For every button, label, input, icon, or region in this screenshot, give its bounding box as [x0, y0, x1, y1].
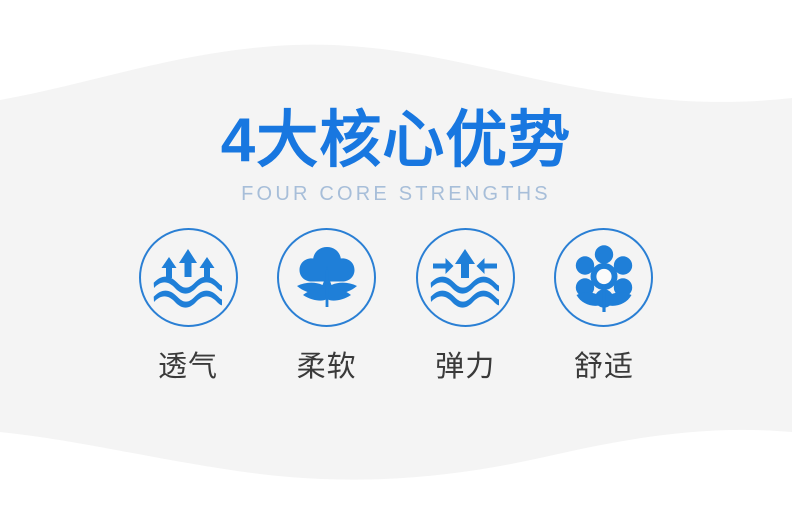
- feature-soft[interactable]: 柔软: [275, 228, 379, 385]
- feature-breathable[interactable]: 透气: [136, 228, 240, 385]
- cotton-boll-icon: [289, 245, 365, 311]
- feature-icon-circle: [277, 228, 376, 327]
- feature-icon-circle: [554, 228, 653, 327]
- feature-icon-circle: [139, 228, 238, 327]
- page-title: 4大核心优势: [0, 108, 792, 175]
- feature-elastic[interactable]: 弹力: [413, 228, 517, 385]
- title-block: 4大核心优势 FOUR CORE STRENGTHS: [0, 108, 792, 206]
- feature-icon-circle: [416, 228, 515, 327]
- elastic-arrows-waves-icon: [429, 247, 501, 309]
- flower-icon: [571, 244, 637, 312]
- four-core-strengths-banner: 4大核心优势 FOUR CORE STRENGTHS: [0, 0, 792, 505]
- feature-label: 舒适: [574, 343, 634, 385]
- feature-label: 透气: [158, 343, 218, 385]
- breathable-arrows-waves-icon: [152, 247, 224, 309]
- feature-comfortable[interactable]: 舒适: [552, 228, 656, 385]
- feature-row: 透气: [136, 228, 656, 385]
- page-subtitle: FOUR CORE STRENGTHS: [0, 183, 792, 206]
- feature-label: 弹力: [435, 343, 495, 385]
- feature-label: 柔软: [297, 343, 357, 385]
